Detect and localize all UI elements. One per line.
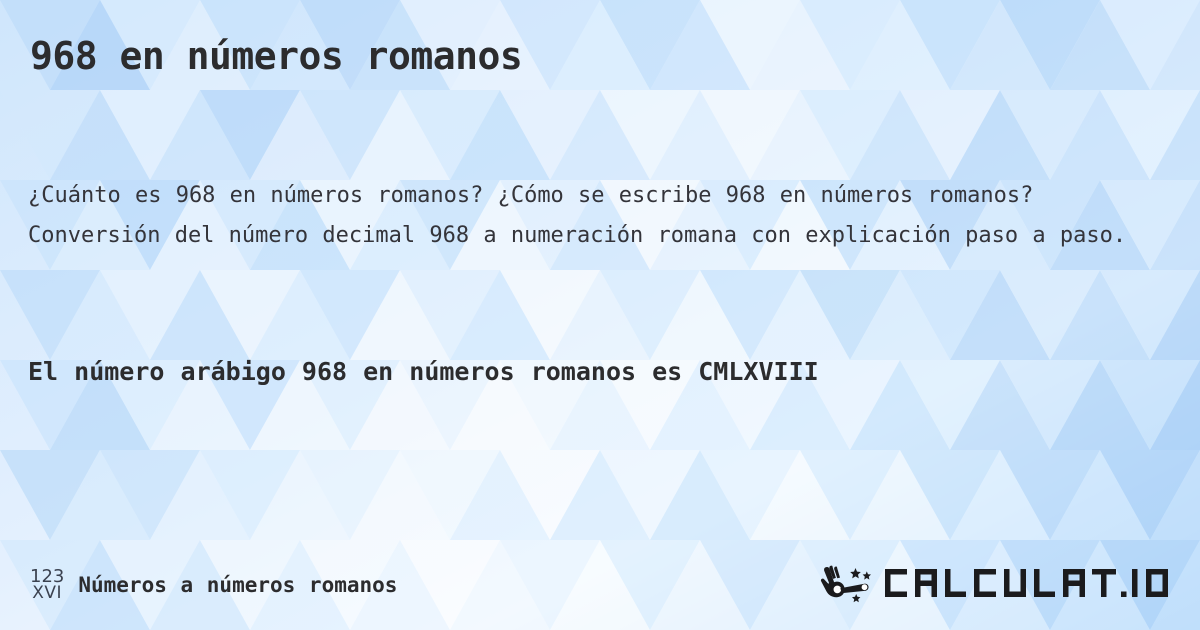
site-logo[interactable]: CALCULAT.IO — [818, 563, 1172, 603]
page-title: 968 en números romanos — [30, 34, 522, 78]
intro-paragraph: ¿Cuánto es 968 en números romanos? ¿Cómo… — [28, 176, 1138, 256]
footer-brand-label: Números a números romanos — [78, 573, 397, 597]
footer-brand-link[interactable]: 123 XVI Números a números romanos — [30, 568, 397, 602]
footer: 123 XVI Números a números romanos — [0, 538, 1200, 630]
page-content: 968 en números romanos ¿Cuánto es 968 en… — [0, 0, 1200, 630]
calculatio-wordmark — [882, 564, 1172, 602]
magic-wand-hand-icon — [818, 563, 878, 603]
numbers-to-roman-icon-bottom: XVI — [32, 585, 62, 602]
numbers-to-roman-icon: 123 XVI — [30, 568, 64, 602]
answer-statement: El número arábigo 968 en números romanos… — [28, 350, 1118, 393]
